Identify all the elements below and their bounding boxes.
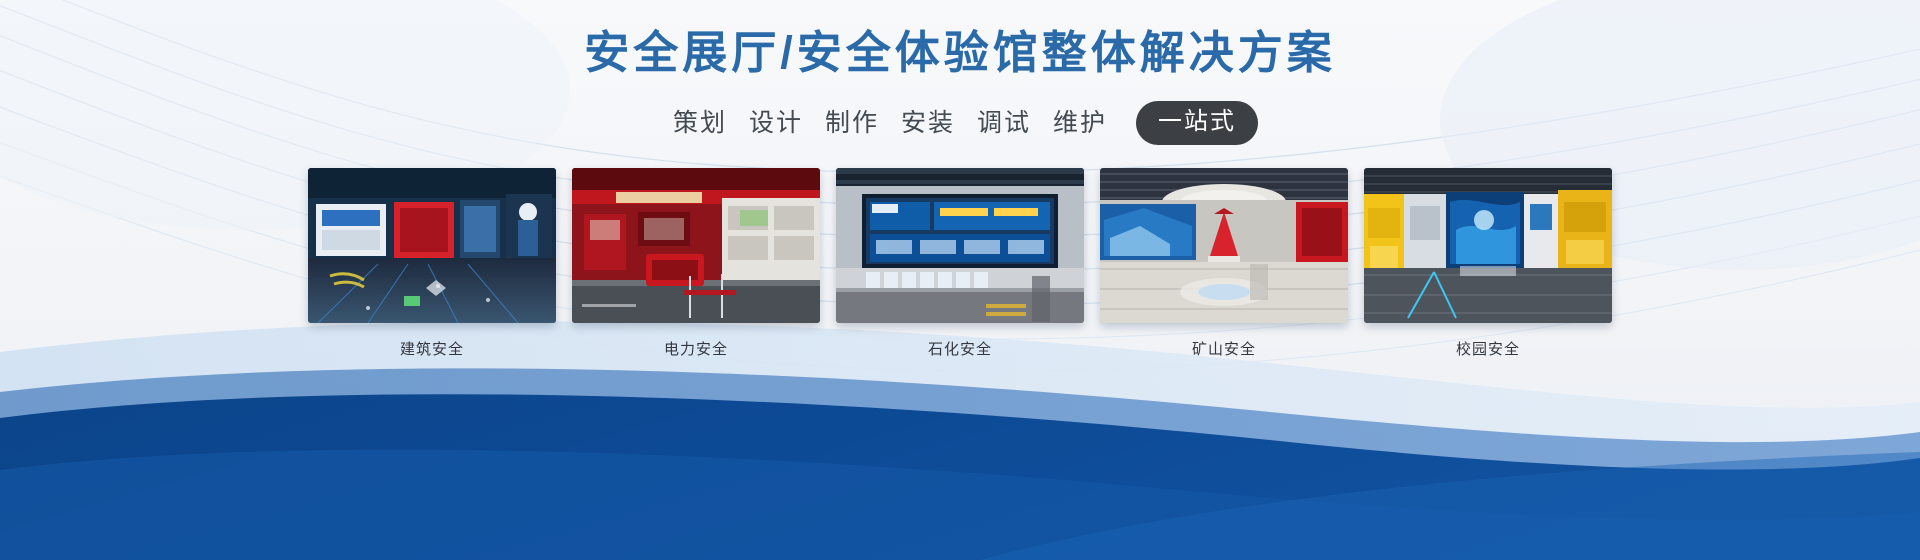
case-caption-campus: 校园安全 <box>1364 339 1612 361</box>
case-thumbnail-petrochemical[interactable] <box>836 168 1084 323</box>
case-card-petrochemical[interactable]: 石化安全 <box>836 168 1084 361</box>
case-caption-petrochemical: 石化安全 <box>836 339 1084 361</box>
case-thumbnail-mining[interactable] <box>1100 168 1348 323</box>
case-card-power[interactable]: 电力安全 <box>572 168 820 361</box>
case-thumbnail-power[interactable] <box>572 168 820 323</box>
case-thumbnail-construction[interactable] <box>308 168 556 323</box>
safety-exhibition-hall-banner: 安全展厅/安全体验馆整体解决方案 策划 设计 制作 安装 调试 维护 一站式 <box>0 0 1920 560</box>
case-thumbnail-campus[interactable] <box>1364 168 1612 323</box>
service-step-production: 制作 <box>825 103 879 143</box>
case-gallery: 建筑安全 <box>0 168 1920 361</box>
case-caption-mining: 矿山安全 <box>1100 339 1348 361</box>
case-caption-construction: 建筑安全 <box>308 339 556 361</box>
case-card-campus[interactable]: 校园安全 <box>1364 168 1612 361</box>
service-step-design: 设计 <box>749 103 803 143</box>
service-steps-row: 策划 设计 制作 安装 调试 维护 一站式 <box>0 101 1920 145</box>
case-card-mining[interactable]: 矿山安全 <box>1100 168 1348 361</box>
service-step-planning: 策划 <box>673 103 727 143</box>
service-step-maintenance: 维护 <box>1053 103 1107 143</box>
service-step-debugging: 调试 <box>977 103 1031 143</box>
service-step-installation: 安装 <box>901 103 955 143</box>
one-stop-badge: 一站式 <box>1136 101 1258 145</box>
page-title: 安全展厅/安全体验馆整体解决方案 <box>0 22 1920 84</box>
case-caption-power: 电力安全 <box>572 339 820 361</box>
case-card-construction[interactable]: 建筑安全 <box>308 168 556 361</box>
